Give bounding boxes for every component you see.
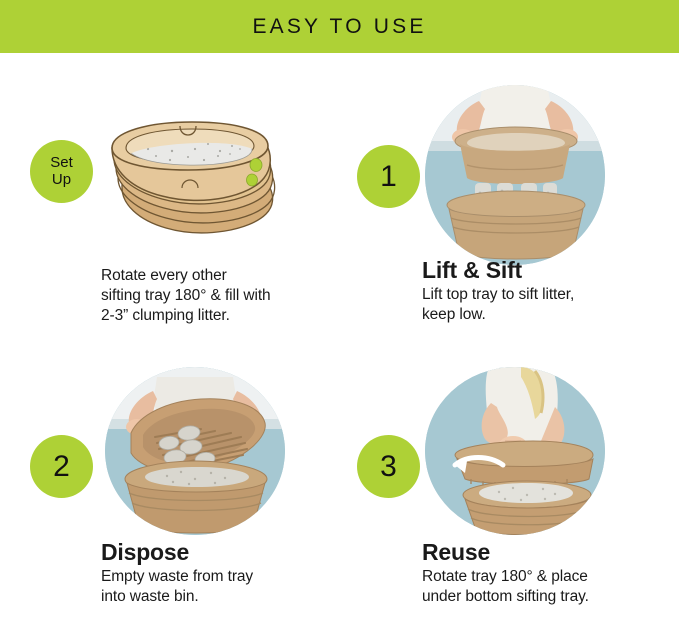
step-lift-and-sift: 1 <box>339 53 679 340</box>
steps-grid: Set Up <box>0 53 679 628</box>
photo-sifting-tray-waste <box>105 367 285 535</box>
caption-reuse-heading: Reuse <box>422 540 678 566</box>
caption-reuse: Reuse Rotate tray 180° & place under bot… <box>422 540 678 606</box>
badge-step-3-number: 3 <box>380 452 397 482</box>
header-banner: EASY TO USE <box>0 0 679 53</box>
caption-reuse-body: Rotate tray 180° & place under bottom si… <box>422 567 678 607</box>
photo-rotate-tray-image <box>425 367 605 535</box>
badge-setup: Set Up <box>30 140 93 203</box>
caption-dispose-body: Empty waste from tray into waste bin. <box>101 567 341 607</box>
badge-step-3: 3 <box>357 435 420 498</box>
step-dispose: 2 <box>0 340 340 627</box>
badge-step-2-number: 2 <box>53 452 70 482</box>
badge-setup-line2: Up <box>52 172 71 188</box>
caption-setup-body: Rotate every other sifting tray 180° & f… <box>101 266 339 325</box>
caption-lift-and-sift-body: Lift top tray to sift litter, keep low. <box>422 285 672 325</box>
infographic-page: EASY TO USE Set Up <box>0 0 679 628</box>
litter-box-icon <box>100 118 285 248</box>
photo-lift-tray <box>425 85 605 265</box>
page-title: EASY TO USE <box>252 16 426 37</box>
photo-rotate-tray <box>425 367 605 535</box>
photo-lift-tray-image <box>425 85 605 265</box>
badge-setup-line1: Set <box>50 155 73 171</box>
step-reuse: 3 <box>339 340 679 627</box>
litter-box-illustration <box>100 118 285 248</box>
caption-lift-and-sift-heading: Lift & Sift <box>422 258 672 284</box>
badge-step-2: 2 <box>30 435 93 498</box>
badge-step-1: 1 <box>357 145 420 208</box>
caption-setup: Rotate every other sifting tray 180° & f… <box>101 266 339 325</box>
badge-step-1-number: 1 <box>380 162 397 192</box>
photo-sifting-tray-waste-image <box>105 367 285 535</box>
caption-dispose-heading: Dispose <box>101 540 341 566</box>
caption-dispose: Dispose Empty waste from tray into waste… <box>101 540 341 606</box>
caption-lift-and-sift: Lift & Sift Lift top tray to sift litter… <box>422 258 672 324</box>
step-setup: Set Up <box>0 53 340 340</box>
